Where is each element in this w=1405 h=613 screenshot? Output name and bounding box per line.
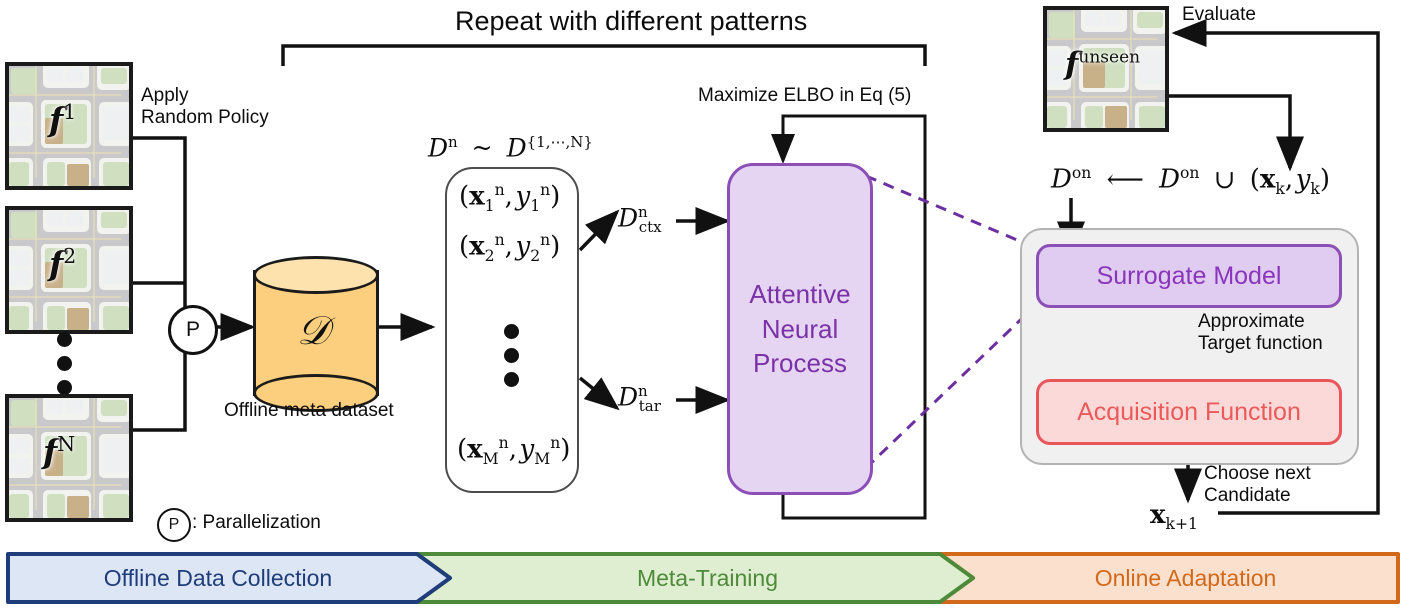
vertical-ellipsis-tiles (57, 332, 72, 395)
pair-y-sub: M (534, 450, 550, 468)
update-lhs: D (1051, 165, 1072, 195)
data-pair-row: (x1n, y1n) (459, 181, 560, 215)
diagram-canvas: f1 (0, 0, 1405, 613)
pair-x-sub: M (483, 450, 499, 468)
phase-banner: Offline Data Collection Meta-Training On… (5, 552, 1400, 604)
phase-offline-data-collection[interactable]: Offline Data Collection (8, 552, 428, 604)
update-lhs-sup: on (1072, 164, 1091, 182)
unseen-tile-label: funseen (1065, 46, 1140, 82)
pair-y: y (516, 232, 531, 262)
offline-dataset-caption: Offline meta dataset (224, 400, 394, 422)
pair-x: x (469, 232, 485, 262)
legend-parallelization-text: : Parallelization (192, 512, 321, 534)
phase-label: Online Adaptation (1095, 565, 1277, 592)
phase-label: Meta-Training (637, 565, 778, 592)
legend-symbol: P (169, 516, 180, 534)
unseen-function-tile: funseen (1043, 6, 1169, 132)
data-pair-row: (x2n, y2n) (459, 231, 560, 265)
pair-x: x (469, 182, 485, 212)
phase-label: Offline Data Collection (104, 565, 332, 592)
legend-parallelization-icon: P (157, 508, 191, 542)
acquisition-function-label: Acquisition Function (1077, 398, 1301, 427)
evaluate-label: Evaluate (1182, 4, 1256, 26)
sampled-dataset-listbox: (x1n, y1n) (x2n, y2n) (xMn, yMn) (445, 167, 579, 493)
pair-x-sup: n (499, 434, 509, 452)
pair-y-sub: 1 (530, 197, 540, 215)
phase-online-adaptation[interactable]: Online Adaptation (973, 552, 1398, 604)
function-tile-fN: fN (5, 394, 133, 522)
ellipsis-dot (57, 380, 72, 395)
update-rhs-sup: on (1180, 164, 1199, 182)
pair-x-sup: n (495, 231, 505, 249)
ellipsis-dot (504, 324, 519, 339)
ellipsis-dot (57, 356, 72, 371)
update-rhs: D (1159, 165, 1180, 195)
assign-arrow-icon: ⟵ (1100, 165, 1151, 195)
vertical-ellipsis-list (504, 324, 519, 387)
approximate-target-label: Approximate Target function (1198, 311, 1323, 356)
pair-y-sub: 2 (530, 247, 540, 265)
apply-random-policy-label: Apply Random Policy (141, 85, 269, 130)
union-symbol: ∪ (1208, 165, 1242, 195)
target-set-label: Dntar (618, 382, 661, 415)
ellipsis-dot (504, 372, 519, 387)
next-candidate-sub: k+1 (1166, 515, 1198, 533)
observed-x: x (1260, 165, 1276, 195)
sampling-lhs-sup: n (448, 133, 458, 151)
tile-label-fN: fN (43, 432, 75, 471)
target-sub: tar (639, 397, 661, 415)
pair-y: y (520, 435, 535, 465)
pair-x-sub: 1 (485, 197, 495, 215)
function-tile-f1: f1 (5, 62, 133, 190)
context-set-label: Dnctx (618, 203, 662, 236)
ellipsis-dot (57, 332, 72, 347)
next-candidate-base: x (1150, 500, 1166, 530)
surrogate-model-box: Surrogate Model (1036, 244, 1342, 308)
pair-y-sup: n (550, 434, 560, 452)
function-tile-f2: f2 (5, 206, 133, 334)
pair-x-sup: n (495, 181, 505, 199)
attentive-neural-process-box: Attentive Neural Process (727, 163, 873, 495)
sampling-rhs: D (507, 133, 527, 162)
pair-y-sup: n (540, 231, 550, 249)
anp-label: Attentive Neural Process (749, 277, 850, 381)
ellipsis-dot (504, 348, 519, 363)
cylinder-top (253, 256, 379, 294)
context-base: D (618, 203, 638, 232)
surrogate-model-label: Surrogate Model (1097, 262, 1282, 291)
pair-y-sup: n (540, 181, 550, 199)
offline-dataset-cylinder: 𝒟 (253, 256, 373, 396)
pair-y: y (516, 182, 531, 212)
choose-next-candidate-label: Choose next Candidate (1204, 463, 1311, 508)
next-candidate-label: xk+1 (1150, 500, 1198, 533)
parallelization-node: P (168, 305, 218, 355)
context-sub: ctx (639, 218, 662, 236)
data-pair-row: (xMn, yMn) (457, 434, 570, 468)
dataset-symbol: 𝒟 (253, 308, 373, 354)
tile-label-f2: f2 (49, 244, 76, 283)
sampling-rhs-sup: {1,⋯,N} (527, 133, 593, 151)
observed-y: y (1296, 165, 1311, 195)
target-base: D (618, 382, 638, 411)
sampling-lhs: D (428, 133, 448, 162)
phase-meta-training[interactable]: Meta-Training (450, 552, 965, 604)
pair-x-sub: 2 (485, 247, 495, 265)
tile-label-f1: f1 (49, 100, 76, 139)
acquisition-function-box: Acquisition Function (1036, 379, 1342, 445)
repeat-patterns-label: Repeat with different patterns (455, 6, 807, 38)
tilde-symbol: ~ (466, 133, 499, 162)
observed-y-sub: k (1310, 180, 1319, 198)
dataset-sampling-label: Dn ~ D{1,⋯,N} (428, 133, 593, 162)
observed-x-sub: k (1275, 180, 1284, 198)
online-dataset-update-rule: Don ⟵ Don ∪ (xk, yk) (1051, 164, 1330, 198)
pair-x: x (467, 435, 483, 465)
parallelization-symbol: P (186, 318, 200, 342)
elbo-label: Maximize ELBO in Eq (5) (698, 85, 911, 107)
